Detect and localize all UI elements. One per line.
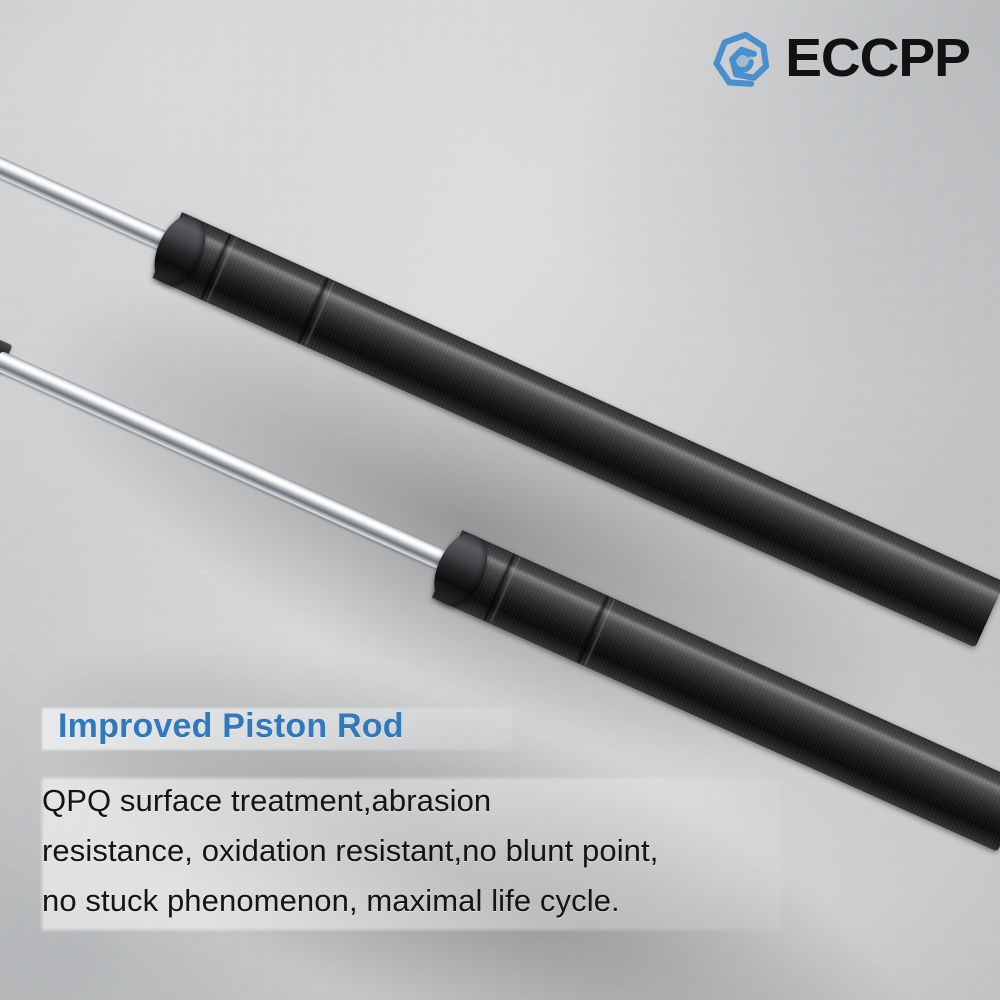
caption-block: Improved Piston Rod QPQ surface treatmen… <box>0 700 1000 926</box>
brand-logo: ECCPP <box>709 24 968 92</box>
body-line-2: resistance, oxidation resistant,no blunt… <box>42 826 1000 876</box>
body-line-1: QPQ surface treatment,abrasion <box>42 776 1000 826</box>
brand-wordmark: ECCPP <box>785 31 970 85</box>
hexagon-spiral-icon <box>709 24 777 92</box>
headline-row: Improved Piston Rod <box>0 700 1000 752</box>
headline-text: Improved Piston Rod <box>58 707 404 746</box>
body-line-3: no stuck phenomenon, maximal life cycle. <box>42 876 1000 926</box>
product-marketing-image: ECCPP Improved Piston Rod QPQ surface tr… <box>0 0 1000 1000</box>
body-text: QPQ surface treatment,abrasion resistanc… <box>42 776 1000 926</box>
